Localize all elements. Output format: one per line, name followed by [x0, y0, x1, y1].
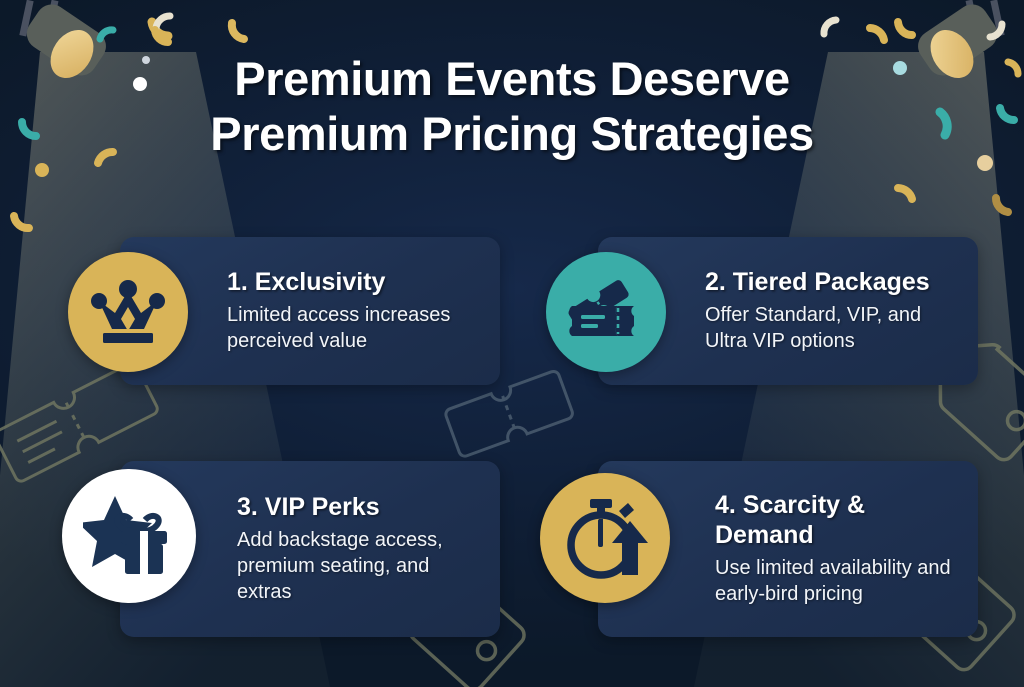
card-description: Limited access increases perceived value — [227, 302, 486, 354]
crown-icon — [91, 279, 165, 345]
tickets-icon-badge — [546, 252, 666, 372]
star-gift-icon-badge — [62, 469, 196, 603]
title-line-1: Premium Events Deserve — [0, 52, 1024, 107]
crown-icon-badge — [68, 252, 188, 372]
cards-grid: 1. Exclusivity Limited access increases … — [60, 237, 978, 637]
stopwatch-arrow-icon-badge — [540, 473, 670, 603]
card-title: 1. Exclusivity — [227, 268, 486, 298]
card-title: 2. Tiered Packages — [705, 268, 964, 298]
stopwatch-arrow-icon — [562, 497, 648, 579]
card-title: 4. Scarcity & Demand — [715, 491, 964, 550]
card-description: Add backstage access, premium seating, a… — [237, 527, 486, 605]
card-description: Use limited availability and early-bird … — [715, 555, 964, 607]
tickets-icon — [566, 276, 646, 348]
infographic-poster: Premium Events Deserve Premium Pricing S… — [0, 0, 1024, 687]
title-line-2: Premium Pricing Strategies — [0, 107, 1024, 162]
star-gift-icon — [83, 494, 175, 578]
card-description: Offer Standard, VIP, and Ultra VIP optio… — [705, 302, 964, 354]
card-title: 3. VIP Perks — [237, 493, 486, 523]
page-title: Premium Events Deserve Premium Pricing S… — [0, 52, 1024, 162]
